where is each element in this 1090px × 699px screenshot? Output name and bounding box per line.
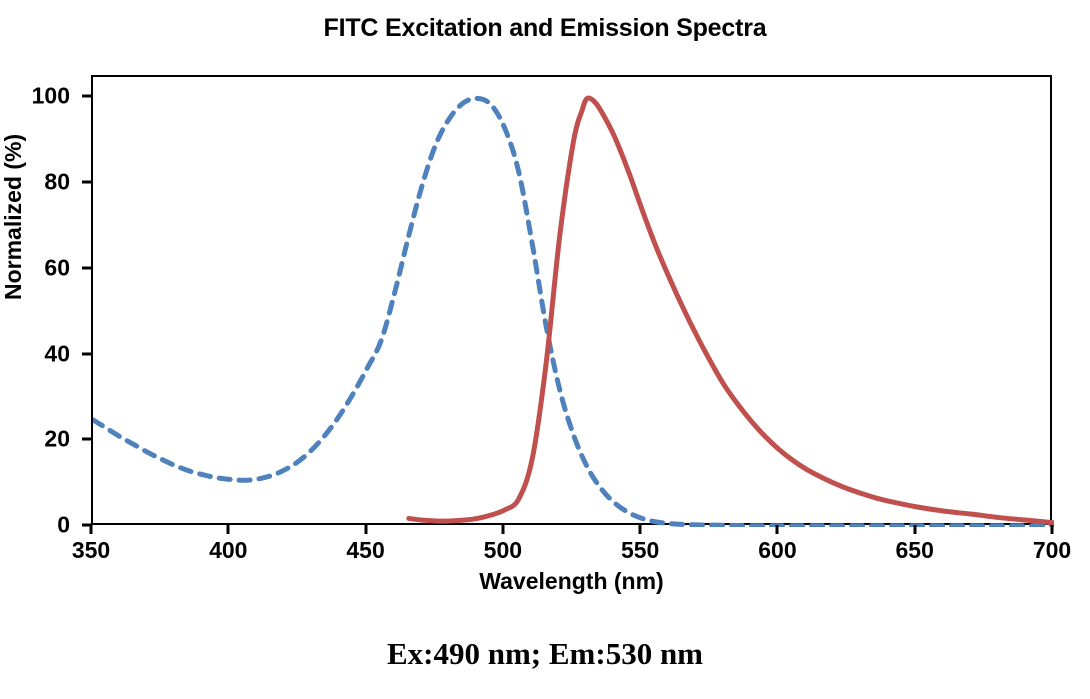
x-tick-mark <box>501 525 504 534</box>
y-axis-title: Normalized (%) <box>0 134 27 300</box>
y-tick-mark <box>82 95 91 98</box>
x-tick-mark <box>364 525 367 534</box>
page-title: FITC Excitation and Emission Spectra <box>0 14 1090 43</box>
x-tick-label: 450 <box>346 537 384 564</box>
y-tick-label: 40 <box>10 340 70 367</box>
spectra-figure: FITC Excitation and Emission Spectra 020… <box>0 0 1090 699</box>
plot-area <box>91 75 1052 525</box>
y-tick-mark <box>82 181 91 184</box>
emission-curve <box>409 98 1054 523</box>
y-tick-label: 0 <box>10 512 70 539</box>
y-tick-mark <box>82 438 91 441</box>
y-tick-mark <box>82 352 91 355</box>
x-tick-mark <box>227 525 230 534</box>
y-tick-label: 100 <box>10 83 70 110</box>
x-tick-mark <box>913 525 916 534</box>
x-tick-mark <box>1051 525 1054 534</box>
x-tick-label: 650 <box>896 537 934 564</box>
x-tick-label: 600 <box>758 537 796 564</box>
x-tick-label: 500 <box>484 537 522 564</box>
x-tick-label: 700 <box>1033 537 1071 564</box>
x-tick-mark <box>90 525 93 534</box>
y-tick-mark <box>82 266 91 269</box>
x-tick-mark <box>776 525 779 534</box>
figure-caption: Ex:490 nm; Em:530 nm <box>0 636 1090 672</box>
excitation-curve <box>93 98 1054 525</box>
x-tick-label: 400 <box>209 537 247 564</box>
y-tick-label: 20 <box>10 426 70 453</box>
x-tick-label: 350 <box>72 537 110 564</box>
x-tick-mark <box>639 525 642 534</box>
spectra-plot-svg <box>93 77 1054 527</box>
x-tick-label: 550 <box>621 537 659 564</box>
x-axis-title: Wavelength (nm) <box>91 568 1052 595</box>
